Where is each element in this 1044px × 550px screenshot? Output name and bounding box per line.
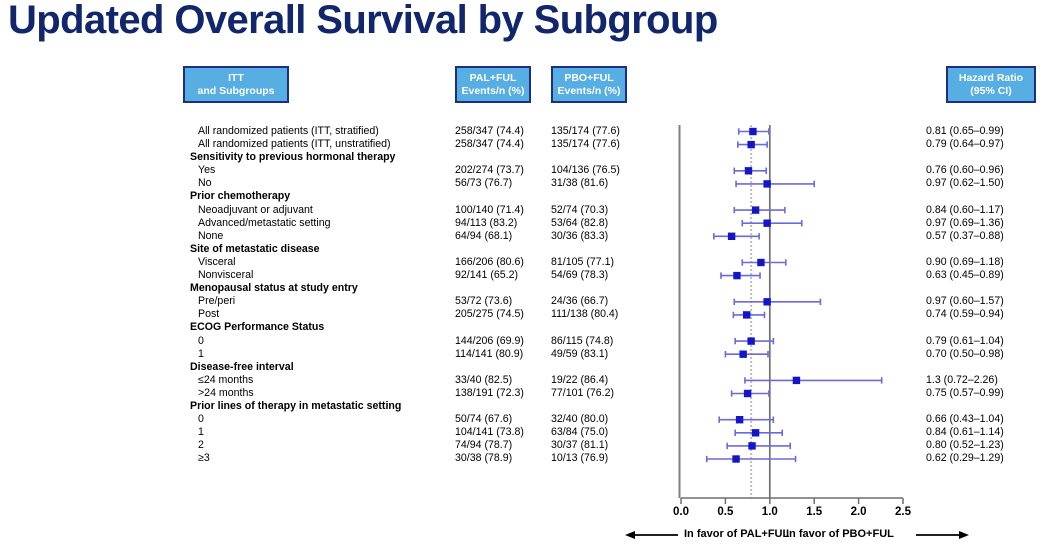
table-row: Yes202/274 (73.7)104/136 (76.5)0.76 (0.6… [0, 164, 1044, 177]
cell-pbo-events: 104/136 (76.5) [551, 164, 651, 177]
cell-hazard-ratio: 0.76 (0.60–0.96) [926, 164, 1042, 177]
subgroup-category-row: Sensitivity to previous hormonal therapy [0, 151, 1044, 164]
left-arrow-head [625, 531, 635, 539]
row-label: Pre/peri [198, 295, 235, 308]
column-header-subgroup-line1: ITT [185, 72, 287, 85]
column-header-pbo-line1: PBO+FUL [553, 72, 625, 85]
subgroup-category-row: Prior lines of therapy in metastatic set… [0, 400, 1044, 413]
table-row: ≤24 months33/40 (82.5)19/22 (86.4)1.3 (0… [0, 374, 1044, 387]
cell-hazard-ratio: 0.63 (0.45–0.89) [926, 269, 1042, 282]
row-label: None [198, 230, 223, 243]
favor-pal-label: In favor of PAL+FUL [684, 528, 789, 540]
cell-pbo-events: 77/101 (76.2) [551, 387, 651, 400]
row-label: Prior chemotherapy [190, 190, 290, 203]
cell-pbo-events: 30/37 (81.1) [551, 439, 651, 452]
row-label: Prior lines of therapy in metastatic set… [190, 400, 401, 413]
cell-hazard-ratio: 0.74 (0.59–0.94) [926, 308, 1042, 321]
cell-pbo-events: 19/22 (86.4) [551, 374, 651, 387]
cell-hazard-ratio: 1.3 (0.72–2.26) [926, 374, 1042, 387]
cell-hazard-ratio: 0.97 (0.60–1.57) [926, 295, 1042, 308]
cell-pal-events: 144/206 (69.9) [455, 335, 555, 348]
table-row: Neoadjuvant or adjuvant100/140 (71.4)52/… [0, 204, 1044, 217]
column-header-subgroup: ITT and Subgroups [183, 66, 289, 103]
row-label: Disease-free interval [190, 361, 294, 374]
subgroup-category-row: ECOG Performance Status [0, 321, 1044, 334]
table-row: Nonvisceral92/141 (65.2)54/69 (78.3)0.63… [0, 269, 1044, 282]
row-label: Neoadjuvant or adjuvant [198, 204, 313, 217]
axis-direction-annotations: In favor of PAL+FULIn favor of PBO+FUL [0, 524, 1044, 546]
table-row: 0144/206 (69.9)86/115 (74.8)0.79 (0.61–1… [0, 335, 1044, 348]
cell-pal-events: 104/141 (73.8) [455, 426, 555, 439]
x-axis-tick-label: 2.0 [839, 506, 879, 518]
cell-pal-events: 33/40 (82.5) [455, 374, 555, 387]
x-axis-tick-label: 0.5 [705, 506, 745, 518]
cell-pal-events: 64/94 (68.1) [455, 230, 555, 243]
row-label: All randomized patients (ITT, unstratifi… [198, 138, 391, 151]
cell-pal-events: 50/74 (67.6) [455, 413, 555, 426]
x-axis-tick-label: 2.5 [883, 506, 923, 518]
cell-hazard-ratio: 0.79 (0.61–1.04) [926, 335, 1042, 348]
cell-pbo-events: 135/174 (77.6) [551, 138, 651, 151]
cell-pal-events: 202/274 (73.7) [455, 164, 555, 177]
column-header-pbo-line2: Events/n (%) [553, 85, 625, 98]
right-arrow-head [959, 531, 969, 539]
subgroup-category-row: Menopausal status at study entry [0, 282, 1044, 295]
cell-pal-events: 100/140 (71.4) [455, 204, 555, 217]
column-header-subgroup-line2: and Subgroups [185, 85, 287, 98]
row-label: 1 [198, 426, 204, 439]
cell-pal-events: 74/94 (78.7) [455, 439, 555, 452]
row-label: ≥3 [198, 452, 210, 465]
cell-pal-events: 30/38 (78.9) [455, 452, 555, 465]
column-header-hr-line1: Hazard Ratio [948, 72, 1034, 85]
row-label: ≤24 months [198, 374, 253, 387]
column-header-pal-ful: PAL+FUL Events/n (%) [455, 66, 531, 103]
cell-hazard-ratio: 0.66 (0.43–1.04) [926, 413, 1042, 426]
table-row: Post205/275 (74.5)111/138 (80.4)0.74 (0.… [0, 308, 1044, 321]
row-label: All randomized patients (ITT, stratified… [198, 125, 379, 138]
cell-hazard-ratio: 0.90 (0.69–1.18) [926, 256, 1042, 269]
table-row: 274/94 (78.7)30/37 (81.1)0.80 (0.52–1.23… [0, 439, 1044, 452]
cell-pal-events: 92/141 (65.2) [455, 269, 555, 282]
cell-hazard-ratio: 0.84 (0.61–1.14) [926, 426, 1042, 439]
cell-hazard-ratio: 0.57 (0.37–0.88) [926, 230, 1042, 243]
x-axis-tick-label: 1.0 [750, 506, 790, 518]
column-header-pal-line2: Events/n (%) [457, 85, 529, 98]
table-row: None64/94 (68.1)30/36 (83.3)0.57 (0.37–0… [0, 230, 1044, 243]
cell-hazard-ratio: 0.62 (0.29–1.29) [926, 452, 1042, 465]
subgroup-category-row: Prior chemotherapy [0, 190, 1044, 203]
table-row: Advanced/metastatic setting94/113 (83.2)… [0, 217, 1044, 230]
table-row: Visceral166/206 (80.6)81/105 (77.1)0.90 … [0, 256, 1044, 269]
page-title: Updated Overall Survival by Subgroup [8, 0, 1028, 44]
row-label: No [198, 177, 212, 190]
table-row: 1114/141 (80.9)49/59 (83.1)0.70 (0.50–0.… [0, 348, 1044, 361]
cell-hazard-ratio: 0.79 (0.64–0.97) [926, 138, 1042, 151]
cell-pbo-events: 52/74 (70.3) [551, 204, 651, 217]
table-row: No56/73 (76.7)31/38 (81.6)0.97 (0.62–1.5… [0, 177, 1044, 190]
table-row: 1104/141 (73.8)63/84 (75.0)0.84 (0.61–1.… [0, 426, 1044, 439]
column-header-pal-line1: PAL+FUL [457, 72, 529, 85]
x-axis-tick-label: 1.5 [794, 506, 834, 518]
cell-pbo-events: 135/174 (77.6) [551, 125, 651, 138]
cell-pbo-events: 30/36 (83.3) [551, 230, 651, 243]
cell-pal-events: 138/191 (72.3) [455, 387, 555, 400]
row-label: ECOG Performance Status [190, 321, 324, 334]
row-label: Visceral [198, 256, 236, 269]
subgroup-table: All randomized patients (ITT, stratified… [0, 125, 1044, 465]
cell-pbo-events: 24/36 (66.7) [551, 295, 651, 308]
row-label: Site of metastatic disease [190, 243, 320, 256]
row-label: 0 [198, 413, 204, 426]
row-label: 2 [198, 439, 204, 452]
row-label: Sensitivity to previous hormonal therapy [190, 151, 395, 164]
cell-hazard-ratio: 0.81 (0.65–0.99) [926, 125, 1042, 138]
cell-pbo-events: 54/69 (78.3) [551, 269, 651, 282]
cell-pal-events: 258/347 (74.4) [455, 125, 555, 138]
cell-pbo-events: 86/115 (74.8) [551, 335, 651, 348]
favor-pbo-label: In favor of PBO+FUL [786, 528, 894, 540]
cell-pbo-events: 31/38 (81.6) [551, 177, 651, 190]
column-header-hazard-ratio: Hazard Ratio (95% CI) [946, 66, 1036, 103]
cell-pal-events: 166/206 (80.6) [455, 256, 555, 269]
cell-pbo-events: 111/138 (80.4) [551, 308, 651, 321]
cell-hazard-ratio: 0.70 (0.50–0.98) [926, 348, 1042, 361]
cell-hazard-ratio: 0.97 (0.62–1.50) [926, 177, 1042, 190]
cell-pal-events: 205/275 (74.5) [455, 308, 555, 321]
row-label: 1 [198, 348, 204, 361]
row-label: Nonvisceral [198, 269, 253, 282]
cell-hazard-ratio: 0.84 (0.60–1.17) [926, 204, 1042, 217]
cell-pbo-events: 32/40 (80.0) [551, 413, 651, 426]
row-label: 0 [198, 335, 204, 348]
cell-pal-events: 258/347 (74.4) [455, 138, 555, 151]
cell-pbo-events: 10/13 (76.9) [551, 452, 651, 465]
cell-pbo-events: 53/64 (82.8) [551, 217, 651, 230]
cell-pal-events: 56/73 (76.7) [455, 177, 555, 190]
table-row: >24 months138/191 (72.3)77/101 (76.2)0.7… [0, 387, 1044, 400]
table-row: All randomized patients (ITT, unstratifi… [0, 138, 1044, 151]
row-label: >24 months [198, 387, 254, 400]
row-label: Post [198, 308, 219, 321]
cell-pal-events: 114/141 (80.9) [455, 348, 555, 361]
slide-root: Updated Overall Survival by Subgroup ITT… [0, 0, 1044, 550]
table-row: Pre/peri53/72 (73.6)24/36 (66.7)0.97 (0.… [0, 295, 1044, 308]
row-label: Yes [198, 164, 215, 177]
cell-pbo-events: 63/84 (75.0) [551, 426, 651, 439]
cell-pal-events: 94/113 (83.2) [455, 217, 555, 230]
subgroup-category-row: Site of metastatic disease [0, 243, 1044, 256]
cell-hazard-ratio: 0.75 (0.57–0.99) [926, 387, 1042, 400]
column-header-hr-line2: (95% CI) [948, 85, 1034, 98]
subgroup-category-row: Disease-free interval [0, 361, 1044, 374]
cell-pbo-events: 49/59 (83.1) [551, 348, 651, 361]
table-row: 050/74 (67.6)32/40 (80.0)0.66 (0.43–1.04… [0, 413, 1044, 426]
row-label: Menopausal status at study entry [190, 282, 358, 295]
row-label: Advanced/metastatic setting [198, 217, 331, 230]
cell-hazard-ratio: 0.97 (0.69–1.36) [926, 217, 1042, 230]
table-row: All randomized patients (ITT, stratified… [0, 125, 1044, 138]
cell-pbo-events: 81/105 (77.1) [551, 256, 651, 269]
x-axis-tick-label: 0.0 [661, 506, 701, 518]
cell-pal-events: 53/72 (73.6) [455, 295, 555, 308]
table-row: ≥330/38 (78.9)10/13 (76.9)0.62 (0.29–1.2… [0, 452, 1044, 465]
cell-hazard-ratio: 0.80 (0.52–1.23) [926, 439, 1042, 452]
column-header-pbo-ful: PBO+FUL Events/n (%) [551, 66, 627, 103]
